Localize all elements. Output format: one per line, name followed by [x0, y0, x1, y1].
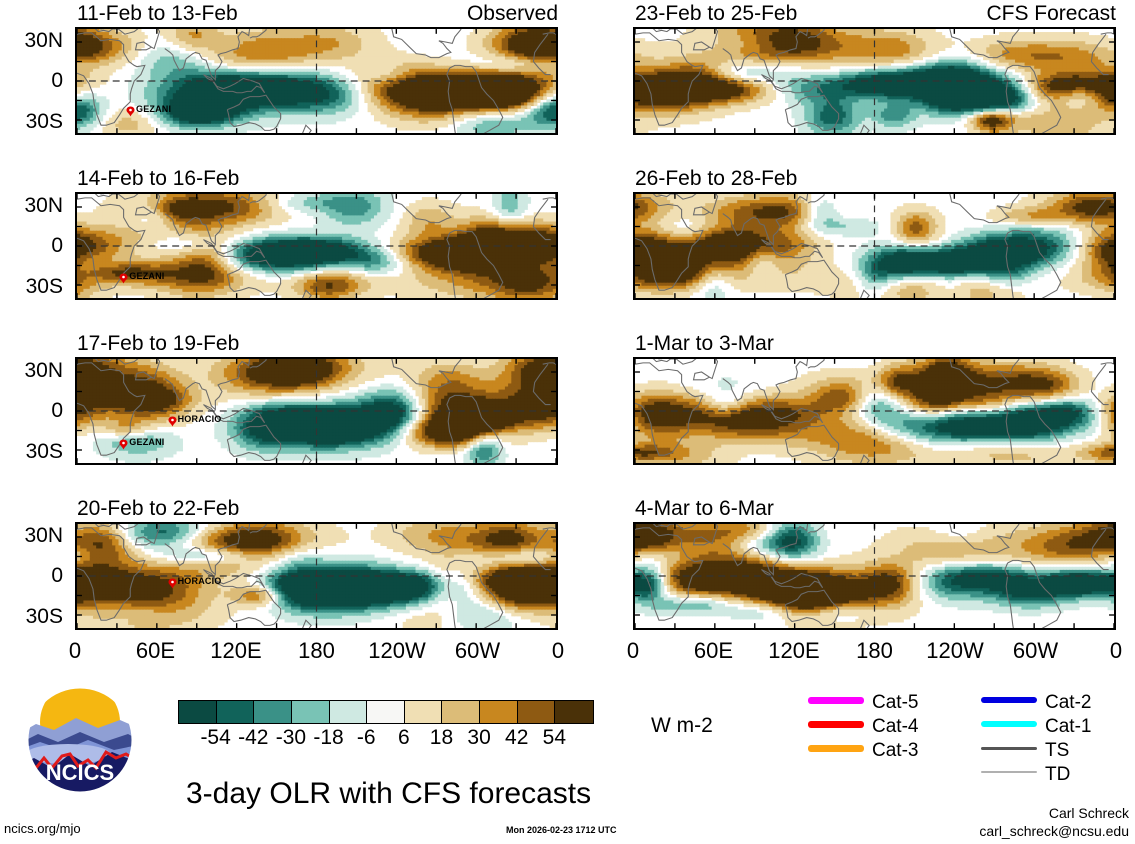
logo-text: NCICS — [46, 760, 114, 785]
colorbar-band — [367, 701, 405, 723]
legend-label: Cat-1 — [1045, 717, 1091, 736]
y-tick-label: 30S — [0, 111, 63, 132]
storm-label: GEZANI — [136, 105, 171, 114]
olr-map — [633, 27, 1116, 135]
olr-map — [75, 522, 558, 630]
y-tick-label: 30S — [0, 441, 63, 462]
panel-title: 14-Feb to 16-Feb — [77, 168, 239, 189]
panel-title: 17-Feb to 19-Feb — [77, 333, 239, 354]
timestamp: Mon 2026-02-23 1712 UTC — [506, 826, 617, 835]
colorbar-tick-label: 54 — [514, 727, 594, 748]
legend-label: TD — [1045, 765, 1070, 784]
colorbar-band — [480, 701, 518, 723]
olr-map — [75, 357, 558, 465]
x-tick-label: 180 — [272, 640, 362, 662]
colorbar-band — [254, 701, 292, 723]
y-tick-label: 30S — [0, 276, 63, 297]
storm-label: GEZANI — [129, 272, 164, 281]
olr-map — [633, 522, 1116, 630]
panel-title: 1-Mar to 3-Mar — [635, 333, 774, 354]
y-tick-label: 30N — [0, 360, 63, 381]
legend-line-cat-3 — [808, 745, 864, 752]
y-tick-label: 30N — [0, 195, 63, 216]
x-tick-label: 120E — [191, 640, 281, 662]
column-header-right: CFS Forecast — [633, 3, 1116, 24]
units-label: W m-2 — [651, 715, 713, 736]
legend-label: Cat-3 — [872, 741, 918, 760]
x-tick-label: 60E — [111, 640, 201, 662]
y-tick-label: 0 — [0, 235, 63, 256]
author: Carl Schreck — [1049, 806, 1129, 820]
x-tick-label: 0 — [588, 640, 678, 662]
y-tick-label: 0 — [0, 70, 63, 91]
x-tick-label: 60E — [669, 640, 759, 662]
site-link[interactable]: ncics.org/mjo — [4, 822, 81, 835]
column-header-left: Observed — [75, 3, 558, 24]
page-title: 3-day OLR with CFS forecasts — [186, 779, 591, 809]
storm-label: HORACIO — [178, 415, 222, 424]
legend-line-cat-1 — [981, 721, 1037, 727]
x-tick-label: 0 — [30, 640, 120, 662]
x-tick-label: 180 — [830, 640, 920, 662]
storm-label: GEZANI — [129, 438, 164, 447]
x-tick-label: 60W — [991, 640, 1081, 662]
colorbar-band — [217, 701, 255, 723]
legend-label: Cat-2 — [1045, 693, 1091, 712]
colorbar-band — [405, 701, 443, 723]
x-tick-label: 120W — [910, 640, 1000, 662]
olr-map — [633, 357, 1116, 465]
storm-label: HORACIO — [178, 577, 222, 586]
colorbar-band — [330, 701, 368, 723]
x-tick-label: 120E — [749, 640, 839, 662]
storm-symbol — [119, 271, 128, 282]
colorbar-band — [179, 701, 217, 723]
legend-label: TS — [1045, 741, 1069, 760]
legend-line-ts — [981, 747, 1037, 750]
panel-title: 26-Feb to 28-Feb — [635, 168, 797, 189]
y-tick-label: 30S — [0, 606, 63, 627]
email[interactable]: carl_schreck@ncsu.edu — [979, 824, 1129, 838]
colorbar-band — [555, 701, 593, 723]
legend-label: Cat-4 — [872, 717, 918, 736]
y-tick-label: 0 — [0, 565, 63, 586]
olr-map — [75, 27, 558, 135]
panel-title: 4-Mar to 6-Mar — [635, 498, 774, 519]
colorbar-band — [292, 701, 330, 723]
ncics-logo: NCICS — [18, 688, 143, 792]
legend-line-cat-5 — [808, 697, 864, 704]
y-tick-label: 0 — [0, 400, 63, 421]
colorbar — [178, 700, 594, 724]
storm-symbol — [168, 576, 177, 587]
x-tick-label: 120W — [352, 640, 442, 662]
legend-line-cat-4 — [808, 721, 864, 728]
y-tick-label: 30N — [0, 30, 63, 51]
olr-map — [633, 192, 1116, 300]
y-tick-label: 30N — [0, 525, 63, 546]
storm-symbol — [126, 104, 135, 115]
colorbar-band — [442, 701, 480, 723]
storm-symbol — [168, 414, 177, 425]
x-tick-label: 60W — [433, 640, 523, 662]
panel-title: 20-Feb to 22-Feb — [77, 498, 239, 519]
olr-map — [75, 192, 558, 300]
legend-label: Cat-5 — [872, 693, 918, 712]
storm-symbol — [119, 437, 128, 448]
x-tick-label: 0 — [1071, 640, 1135, 662]
colorbar-band — [518, 701, 556, 723]
legend-line-td — [981, 771, 1037, 773]
legend-line-cat-2 — [981, 697, 1037, 703]
